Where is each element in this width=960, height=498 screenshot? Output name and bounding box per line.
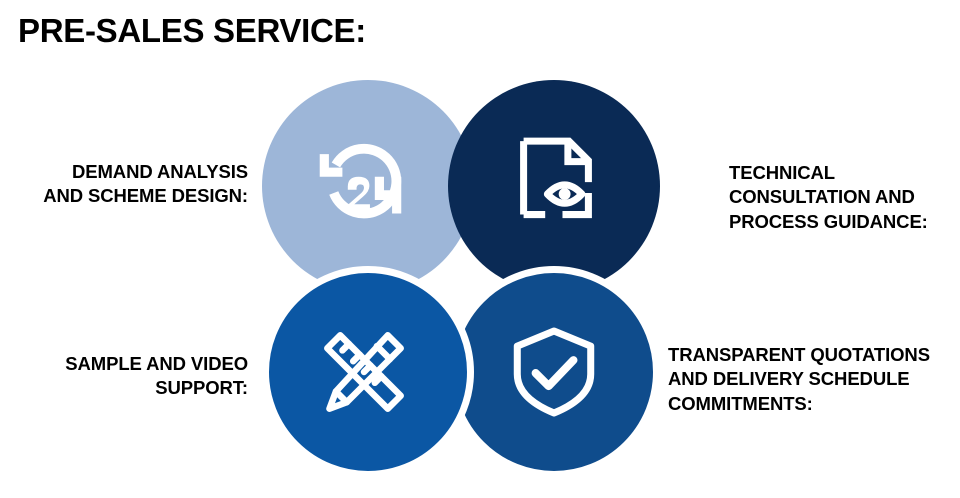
label-line: TECHNICAL bbox=[729, 161, 957, 185]
infographic-canvas: PRE-SALES SERVICE: bbox=[0, 0, 960, 498]
document-eye-review-icon bbox=[502, 126, 610, 234]
label-demand-analysis: DEMAND ANALYSIS AND SCHEME DESIGN: bbox=[18, 160, 248, 209]
label-transparent-quotations: TRANSPARENT QUOTATIONS AND DELIVERY SCHE… bbox=[668, 343, 960, 416]
circle-sample-and-video[interactable] bbox=[262, 266, 474, 478]
label-line: CONSULTATION AND bbox=[729, 185, 957, 209]
label-line: SUPPORT: bbox=[18, 376, 248, 400]
label-line: AND SCHEME DESIGN: bbox=[18, 184, 248, 208]
label-sample-and-video: SAMPLE AND VIDEO SUPPORT: bbox=[18, 352, 248, 401]
circle-technical-consultation[interactable] bbox=[448, 80, 660, 292]
rotate-24-hours-icon bbox=[310, 126, 418, 234]
circle-demand-analysis[interactable] bbox=[262, 80, 474, 292]
page-title: PRE-SALES SERVICE: bbox=[18, 12, 366, 50]
label-technical-consultation: TECHNICAL CONSULTATION AND PROCESS GUIDA… bbox=[729, 161, 957, 234]
circle-transparent-quotations[interactable] bbox=[448, 266, 660, 478]
label-line: TRANSPARENT QUOTATIONS bbox=[668, 343, 960, 367]
label-line: PROCESS GUIDANCE: bbox=[729, 210, 957, 234]
label-line: COMMITMENTS: bbox=[668, 392, 960, 416]
label-line: DEMAND ANALYSIS bbox=[18, 160, 248, 184]
label-line: AND DELIVERY SCHEDULE bbox=[668, 367, 960, 391]
shield-check-icon bbox=[500, 318, 608, 426]
label-line: SAMPLE AND VIDEO bbox=[18, 352, 248, 376]
pencil-ruler-design-icon bbox=[310, 318, 418, 426]
venn-circle-cluster bbox=[258, 76, 678, 496]
